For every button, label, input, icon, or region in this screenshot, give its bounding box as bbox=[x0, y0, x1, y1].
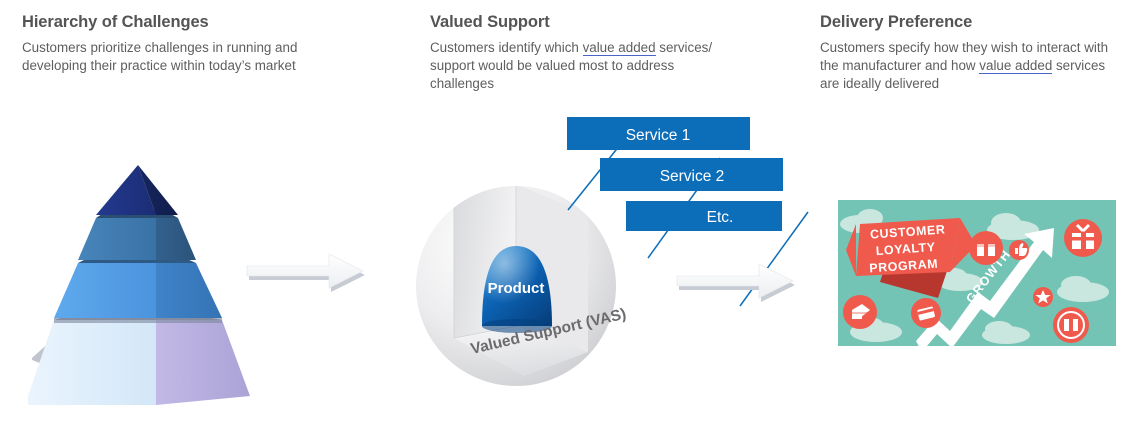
column-header-valued-support: Valued Support Customers identify which … bbox=[430, 13, 730, 93]
pyramid-tier-3 bbox=[54, 255, 222, 323]
loyalty-banner-text: CUSTOMER LOYALTY PROGRAM bbox=[869, 222, 946, 275]
description-text: Customers prioritize challenges in runni… bbox=[22, 40, 297, 73]
column-title: Valued Support bbox=[430, 13, 730, 32]
infographic-stage: Hierarchy of Challenges Customers priori… bbox=[0, 0, 1134, 424]
column-description: Customers specify how they wish to inter… bbox=[820, 39, 1120, 93]
badge-icon bbox=[1053, 307, 1089, 343]
pyramid-tier-2 bbox=[78, 210, 196, 260]
value-added-link[interactable]: value added bbox=[583, 40, 656, 56]
callout-item-3[interactable]: Etc. bbox=[626, 201, 782, 231]
hierarchy-pyramid-graphic bbox=[20, 160, 270, 405]
wallet-icon bbox=[843, 295, 877, 329]
description-text-pre: Customers identify which bbox=[430, 40, 583, 55]
star-icon bbox=[1033, 287, 1053, 307]
product-label: Product bbox=[488, 280, 545, 297]
column-description: Customers identify which value added ser… bbox=[430, 39, 730, 93]
gift-icon bbox=[969, 231, 1003, 265]
card-icon bbox=[911, 298, 941, 328]
callout-label: Service 2 bbox=[660, 168, 725, 185]
column-header-hierarchy: Hierarchy of Challenges Customers priori… bbox=[22, 13, 352, 75]
callout-label: Service 1 bbox=[626, 127, 691, 144]
column-title: Hierarchy of Challenges bbox=[22, 13, 352, 32]
pyramid-tier-4 bbox=[28, 312, 250, 405]
column-title: Delivery Preference bbox=[820, 13, 1120, 32]
callout-item-1[interactable]: Service 1 bbox=[567, 117, 750, 150]
callout-label: Etc. bbox=[707, 209, 734, 226]
gift-box-icon bbox=[1064, 219, 1102, 257]
arrow-pyramid-to-sphere bbox=[245, 248, 370, 310]
arrow-sphere-to-loyalty bbox=[675, 258, 800, 320]
arrow-shape bbox=[247, 254, 365, 292]
column-header-delivery-preference: Delivery Preference Customers specify ho… bbox=[820, 13, 1120, 93]
thumbs-up-icon bbox=[1009, 240, 1029, 260]
value-added-link[interactable]: value added bbox=[979, 58, 1052, 74]
pyramid-tier-1-apex bbox=[96, 165, 178, 215]
column-description: Customers prioritize challenges in runni… bbox=[22, 39, 352, 75]
customer-loyalty-illustration: GROWTH CUSTOMER LOYALTY PROGRAM bbox=[838, 200, 1116, 346]
callout-item-2[interactable]: Service 2 bbox=[600, 158, 783, 191]
arrow-shape bbox=[677, 264, 795, 302]
